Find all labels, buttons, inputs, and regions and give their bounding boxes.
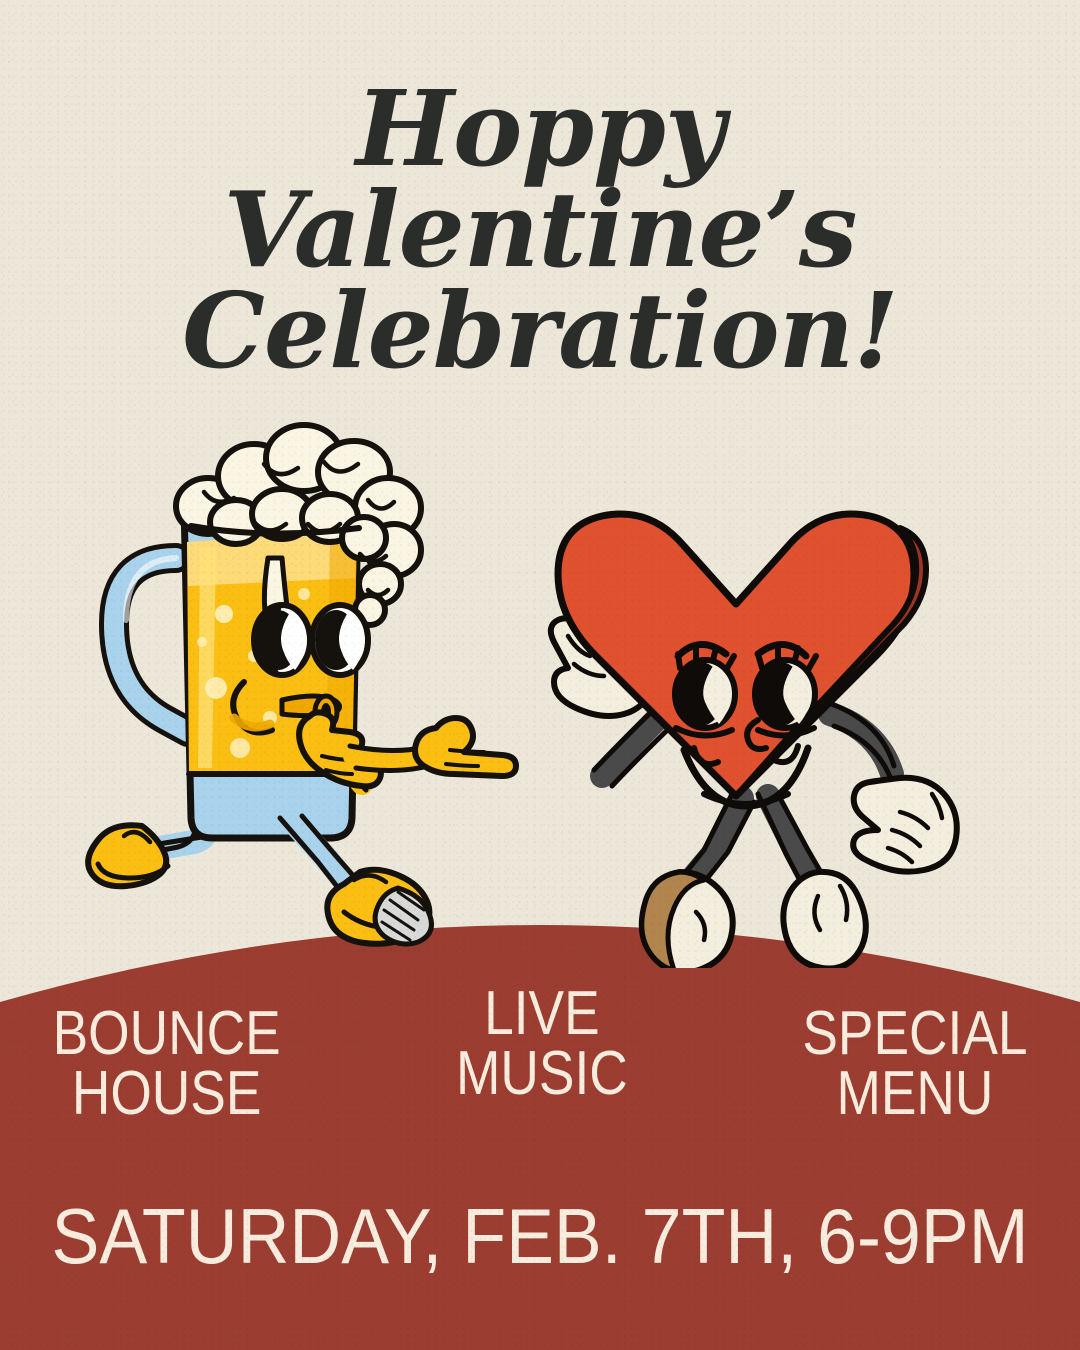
feature-bounce-house: BOUNCE HOUSE [53, 1000, 281, 1124]
feature-list: BOUNCE HOUSE LIVE MUSIC SPECIAL MENU [0, 1000, 1080, 1130]
title-line-3: Celebration! [0, 280, 1080, 381]
event-date-time: SATURDAY, FEB. 7TH, 6-9PM [43, 1195, 1037, 1277]
heart-mascot [500, 498, 990, 968]
poster-canvas: Hoppy Valentine’s Celebration! [0, 0, 1080, 1350]
feature-special-menu-line2: MENU [802, 1064, 1027, 1124]
page-title: Hoppy Valentine’s Celebration! [0, 78, 1080, 381]
beer-mug-mascot [58, 418, 528, 958]
title-line-1: Hoppy [0, 78, 1080, 179]
feature-bounce-house-line1: BOUNCE [53, 1004, 281, 1064]
feature-special-menu-line1: SPECIAL [802, 1004, 1027, 1064]
feature-live-music: LIVE MUSIC [456, 984, 628, 1104]
feature-bounce-house-line2: HOUSE [53, 1064, 281, 1124]
feature-live-music-line2: MUSIC [456, 1044, 628, 1104]
feature-live-music-line1: LIVE [456, 984, 628, 1044]
feature-special-menu: SPECIAL MENU [802, 1000, 1027, 1124]
title-line-2: Valentine’s [0, 179, 1080, 280]
